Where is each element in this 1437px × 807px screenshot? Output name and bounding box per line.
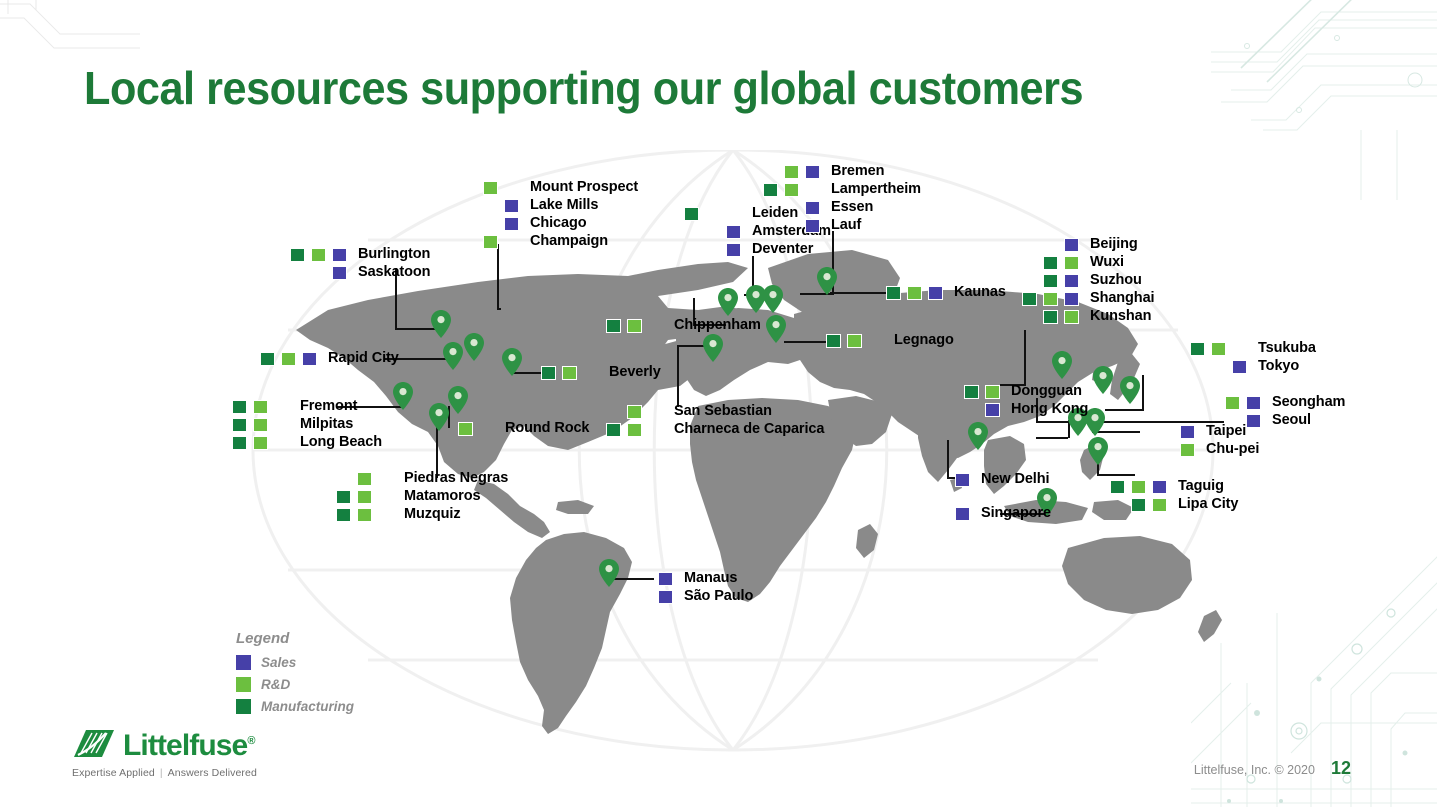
swatch-rnd bbox=[985, 385, 1000, 399]
city-label-row: Saskatoon bbox=[290, 264, 430, 281]
swatch-sales bbox=[1180, 425, 1195, 439]
swatch-slot-2 bbox=[253, 400, 271, 414]
swatch-slot-1 bbox=[336, 472, 354, 486]
swatch-slot-3 bbox=[378, 472, 396, 486]
swatch-slot-1 bbox=[763, 201, 781, 215]
city-name: Seoul bbox=[1272, 413, 1311, 428]
logo-registered-mark: ® bbox=[247, 735, 254, 747]
city-label-row: São Paulo bbox=[616, 588, 753, 605]
city-label-row: Taipei bbox=[1138, 423, 1259, 440]
slide-canvas: Local resources supporting our global cu… bbox=[0, 0, 1437, 807]
swatch-rnd bbox=[627, 405, 642, 419]
swatch-slot-1 bbox=[1138, 425, 1156, 439]
swatch-slot-1 bbox=[913, 473, 931, 487]
swatch-slot-2 bbox=[1131, 498, 1149, 512]
city-label-row: Round Rock bbox=[437, 420, 589, 437]
city-name: Charneca de Caparica bbox=[674, 422, 824, 437]
swatch-manufacturing bbox=[886, 286, 901, 300]
swatch-manufacturing bbox=[290, 248, 305, 262]
swatch-slot-1 bbox=[541, 366, 559, 380]
swatch-rnd bbox=[1064, 256, 1079, 270]
swatch-slot-2 bbox=[627, 423, 645, 437]
city-label-row: Long Beach bbox=[232, 434, 382, 451]
swatch-slot-1 bbox=[616, 572, 634, 586]
city-name: Beijing bbox=[1090, 237, 1138, 252]
city-label-row: Chu-pei bbox=[1138, 441, 1259, 458]
swatch-rnd bbox=[1043, 292, 1058, 306]
city-label-row: Chicago bbox=[462, 215, 638, 232]
swatch-slot-3 bbox=[583, 366, 601, 380]
city-name: San Sebastian bbox=[674, 404, 772, 419]
swatch-slot-1 bbox=[462, 181, 480, 195]
swatch-slot-3 bbox=[274, 436, 292, 450]
swatch-slot-1 bbox=[336, 490, 354, 504]
swatch-slot-2 bbox=[637, 572, 655, 586]
swatch-slot-3 bbox=[805, 183, 823, 197]
swatch-slot-3 bbox=[805, 165, 823, 179]
legend-item-rnd: R&D bbox=[236, 675, 354, 693]
swatch-slot-2 bbox=[784, 165, 802, 179]
city-label-row: Essen bbox=[763, 199, 921, 216]
swatch-slot-3 bbox=[1246, 396, 1264, 410]
logo-tagline: Expertise Applied|Answers Delivered bbox=[72, 767, 257, 779]
swatch-slot-1 bbox=[1022, 274, 1040, 288]
city-name: New Delhi bbox=[981, 472, 1049, 487]
swatch-sales bbox=[332, 266, 347, 280]
swatch-slot-1 bbox=[1022, 310, 1040, 324]
swatch-slot-3 bbox=[378, 508, 396, 522]
city-label-row: Chippenham bbox=[606, 317, 761, 334]
city-label-row: Milpitas bbox=[232, 416, 382, 433]
swatch-sales bbox=[805, 165, 820, 179]
swatch-slot-1 bbox=[606, 319, 624, 333]
swatch-slot-3 bbox=[1232, 342, 1250, 356]
city-name: Burlington bbox=[358, 247, 430, 262]
swatch-slot-2 bbox=[637, 590, 655, 604]
swatch-slot-1 bbox=[1110, 498, 1128, 512]
label-group-beverly: Beverly bbox=[541, 364, 661, 382]
city-label-row: Beijing bbox=[1022, 236, 1154, 253]
swatch-rnd bbox=[357, 490, 372, 504]
swatch-slot-2 bbox=[784, 201, 802, 215]
swatch-slot-2 bbox=[483, 235, 501, 249]
swatch-rnd bbox=[627, 319, 642, 333]
legend-label: R&D bbox=[261, 677, 290, 692]
swatch-slot-2 bbox=[705, 225, 723, 239]
legend-label: Sales bbox=[261, 655, 296, 670]
swatch-slot-1 bbox=[232, 418, 250, 432]
map-pin bbox=[703, 334, 723, 362]
city-name: Taguig bbox=[1178, 479, 1224, 494]
swatch-slot-1 bbox=[943, 385, 961, 399]
swatch-rnd bbox=[311, 248, 326, 262]
legend-item-sales: Sales bbox=[236, 653, 354, 671]
label-group-taguig: TaguigLipa City bbox=[1110, 478, 1238, 514]
city-label-row: Fremont bbox=[232, 398, 382, 415]
swatch-slot-1 bbox=[437, 422, 455, 436]
swatch-rnd bbox=[357, 472, 372, 486]
city-name: Lauf bbox=[831, 218, 861, 233]
swatch-slot-3 bbox=[504, 235, 522, 249]
map-pin bbox=[718, 288, 738, 316]
swatch-manufacturing bbox=[1110, 480, 1125, 494]
city-label-row: Manaus bbox=[616, 570, 753, 587]
city-name: Tsukuba bbox=[1258, 341, 1316, 356]
swatch-slot-2 bbox=[964, 385, 982, 399]
city-name: Round Rock bbox=[505, 421, 589, 436]
city-name: Chu-pei bbox=[1206, 442, 1259, 457]
map-pin bbox=[393, 382, 413, 410]
swatch-slot-3 bbox=[726, 225, 744, 239]
swatch-manufacturing bbox=[1022, 292, 1037, 306]
swatch-rnd bbox=[253, 436, 268, 450]
swatch-slot-2 bbox=[311, 248, 329, 262]
swatch-sales bbox=[302, 352, 317, 366]
legend-swatch-rnd bbox=[236, 677, 251, 692]
label-group-bremen: BremenLampertheimEssenLauf bbox=[763, 163, 921, 235]
swatch-slot-2 bbox=[1225, 396, 1243, 410]
swatch-sales bbox=[658, 590, 673, 604]
swatch-slot-2 bbox=[784, 219, 802, 233]
label-group-new-delhi: New Delhi bbox=[913, 471, 1049, 489]
swatch-slot-1 bbox=[290, 248, 308, 262]
city-label-row: San Sebastian bbox=[606, 403, 824, 420]
city-name: Bremen bbox=[831, 164, 884, 179]
city-label-row: Lauf bbox=[763, 217, 921, 234]
city-name: Suzhou bbox=[1090, 273, 1142, 288]
swatch-slot-2 bbox=[964, 403, 982, 417]
city-name: Kunshan bbox=[1090, 309, 1151, 324]
swatch-slot-1 bbox=[336, 508, 354, 522]
label-group-chippenham: Chippenham bbox=[606, 317, 761, 335]
label-group-tsukuba: TsukubaTokyo bbox=[1190, 340, 1316, 376]
swatch-slot-3 bbox=[378, 490, 396, 504]
swatch-slot-3 bbox=[726, 207, 744, 221]
swatch-slot-2 bbox=[784, 183, 802, 197]
label-group-beijing: BeijingWuxiSuzhouShanghaiKunshan bbox=[1022, 236, 1154, 326]
label-group-round-rock: Round Rock bbox=[437, 420, 589, 438]
swatch-slot-2 bbox=[1043, 310, 1061, 324]
map-pin bbox=[763, 285, 783, 313]
swatch-slot-1 bbox=[1022, 238, 1040, 252]
swatch-slot-1 bbox=[763, 165, 781, 179]
swatch-sales bbox=[1064, 274, 1079, 288]
legend-item-manufacturing: Manufacturing bbox=[236, 697, 354, 715]
map-pin bbox=[1052, 351, 1072, 379]
swatch-slot-3 bbox=[805, 219, 823, 233]
label-group-san-sebastian: San SebastianCharneca de Caparica bbox=[606, 403, 824, 439]
swatch-sales bbox=[1246, 396, 1261, 410]
slide-footer: Littelfuse, Inc. © 2020 12 bbox=[1194, 758, 1351, 779]
swatch-slot-3 bbox=[332, 248, 350, 262]
map-pin bbox=[968, 422, 988, 450]
swatch-rnd bbox=[784, 165, 799, 179]
swatch-slot-2 bbox=[253, 418, 271, 432]
legend-items: SalesR&DManufacturing bbox=[236, 653, 354, 715]
swatch-slot-3 bbox=[985, 385, 1003, 399]
swatch-rnd bbox=[1131, 480, 1146, 494]
swatch-slot-3 bbox=[1064, 310, 1082, 324]
swatch-rnd bbox=[483, 235, 498, 249]
swatch-slot-3 bbox=[955, 507, 973, 521]
city-label-row: Singapore bbox=[913, 505, 1051, 522]
swatch-rnd bbox=[1211, 342, 1226, 356]
city-label-row: Lampertheim bbox=[763, 181, 921, 198]
swatch-manufacturing bbox=[606, 319, 621, 333]
swatch-slot-3 bbox=[955, 473, 973, 487]
swatch-slot-1 bbox=[684, 207, 702, 221]
city-label-row: Bremen bbox=[763, 163, 921, 180]
swatch-slot-3 bbox=[648, 405, 666, 419]
swatch-slot-2 bbox=[458, 422, 476, 436]
swatch-slot-3 bbox=[658, 590, 676, 604]
swatch-slot-2 bbox=[934, 507, 952, 521]
map-pin bbox=[1093, 366, 1113, 394]
city-name: Piedras Negras bbox=[404, 471, 508, 486]
swatch-slot-2 bbox=[1043, 292, 1061, 306]
swatch-slot-2 bbox=[1159, 443, 1177, 457]
circuit-decoration-top-right bbox=[1211, 0, 1437, 200]
swatch-slot-3 bbox=[1064, 292, 1082, 306]
swatch-manufacturing bbox=[826, 334, 841, 348]
label-group-rapid-city: Rapid City bbox=[260, 350, 399, 368]
swatch-slot-1 bbox=[290, 266, 308, 280]
label-group-dongguan: DongguanHong Kong bbox=[943, 383, 1088, 419]
swatch-sales bbox=[955, 507, 970, 521]
legend-label: Manufacturing bbox=[261, 699, 354, 714]
swatch-sales bbox=[332, 248, 347, 262]
label-group-legnago: Legnago bbox=[826, 332, 954, 350]
swatch-manufacturing bbox=[1131, 498, 1146, 512]
swatch-slot-2 bbox=[1211, 342, 1229, 356]
swatch-slot-3 bbox=[504, 217, 522, 231]
swatch-rnd bbox=[1225, 396, 1240, 410]
swatch-slot-2 bbox=[357, 490, 375, 504]
city-name: Shanghai bbox=[1090, 291, 1154, 306]
city-name: Chippenham bbox=[674, 318, 761, 333]
city-label-row: Lake Mills bbox=[462, 197, 638, 214]
swatch-rnd bbox=[281, 352, 296, 366]
map-pin bbox=[431, 310, 451, 338]
city-label-row: Seongham bbox=[1204, 394, 1345, 411]
city-name: Matamoros bbox=[404, 489, 480, 504]
swatch-sales bbox=[726, 243, 741, 257]
city-name: Beverly bbox=[609, 365, 661, 380]
legend: Legend SalesR&DManufacturing bbox=[236, 630, 354, 719]
swatch-rnd bbox=[562, 366, 577, 380]
label-group-fremont: FremontMilpitasLong Beach bbox=[232, 398, 382, 452]
swatch-manufacturing bbox=[336, 490, 351, 504]
swatch-slot-1 bbox=[232, 436, 250, 450]
city-name: Singapore bbox=[981, 506, 1051, 521]
swatch-slot-1 bbox=[606, 423, 624, 437]
swatch-slot-2 bbox=[847, 334, 865, 348]
city-label-row: Deventer bbox=[684, 241, 831, 258]
swatch-slot-1 bbox=[1190, 342, 1208, 356]
city-name: Manaus bbox=[684, 571, 737, 586]
swatch-slot-1 bbox=[1022, 292, 1040, 306]
swatch-sales bbox=[658, 572, 673, 586]
swatch-sales bbox=[1152, 480, 1167, 494]
swatch-rnd bbox=[627, 423, 642, 437]
swatch-sales bbox=[726, 225, 741, 239]
swatch-sales bbox=[928, 286, 943, 300]
city-name: Legnago bbox=[894, 333, 954, 348]
swatch-slot-1 bbox=[684, 225, 702, 239]
littelfuse-logo: Littelfuse® Expertise Applied|Answers De… bbox=[72, 728, 257, 779]
swatch-rnd bbox=[1152, 498, 1167, 512]
city-name: Lampertheim bbox=[831, 182, 921, 197]
swatch-manufacturing bbox=[260, 352, 275, 366]
swatch-sales bbox=[1064, 292, 1079, 306]
swatch-slot-1 bbox=[1190, 360, 1208, 374]
swatch-slot-3 bbox=[805, 201, 823, 215]
swatch-slot-2 bbox=[562, 366, 580, 380]
swatch-slot-1 bbox=[260, 352, 278, 366]
swatch-sales bbox=[805, 201, 820, 215]
swatch-manufacturing bbox=[1190, 342, 1205, 356]
swatch-sales bbox=[805, 219, 820, 233]
swatch-slot-3 bbox=[274, 400, 292, 414]
swatch-rnd bbox=[1064, 310, 1079, 324]
label-group-piedras-negras: Piedras NegrasMatamorosMuzquiz bbox=[336, 470, 508, 524]
swatch-slot-2 bbox=[1043, 274, 1061, 288]
swatch-slot-2 bbox=[357, 472, 375, 486]
city-name: Rapid City bbox=[328, 351, 399, 366]
swatch-slot-1 bbox=[763, 219, 781, 233]
swatch-slot-1 bbox=[1022, 256, 1040, 270]
swatch-sales bbox=[955, 473, 970, 487]
city-label-row: Wuxi bbox=[1022, 254, 1154, 271]
legend-swatch-sales bbox=[236, 655, 251, 670]
swatch-rnd bbox=[784, 183, 799, 197]
swatch-slot-3 bbox=[928, 286, 946, 300]
city-label-row: Kunshan bbox=[1022, 308, 1154, 325]
swatch-slot-3 bbox=[274, 418, 292, 432]
city-name: Lipa City bbox=[1178, 497, 1238, 512]
map-pin bbox=[817, 267, 837, 295]
city-name: Saskatoon bbox=[358, 265, 430, 280]
tagline-right: Answers Delivered bbox=[168, 767, 257, 779]
city-label-row: Hong Kong bbox=[943, 401, 1088, 418]
swatch-slot-1 bbox=[943, 403, 961, 417]
swatch-slot-3 bbox=[658, 572, 676, 586]
city-name: Milpitas bbox=[300, 417, 353, 432]
swatch-rnd bbox=[1180, 443, 1195, 457]
swatch-slot-2 bbox=[705, 243, 723, 257]
city-label-row: Piedras Negras bbox=[336, 470, 508, 487]
city-name: Kaunas bbox=[954, 285, 1006, 300]
city-name: Mount Prospect bbox=[530, 180, 638, 195]
swatch-slot-2 bbox=[1043, 256, 1061, 270]
swatch-slot-2 bbox=[253, 436, 271, 450]
city-label-row: Taguig bbox=[1110, 478, 1238, 495]
swatch-rnd bbox=[907, 286, 922, 300]
swatch-rnd bbox=[847, 334, 862, 348]
swatch-slot-1 bbox=[1204, 396, 1222, 410]
city-label-row: Charneca de Caparica bbox=[606, 421, 824, 438]
swatch-rnd bbox=[458, 422, 473, 436]
swatch-slot-1 bbox=[232, 400, 250, 414]
label-group-mount-prospect: Mount ProspectLake MillsChicagoChampaign bbox=[462, 179, 638, 251]
city-name: Lake Mills bbox=[530, 198, 598, 213]
city-label-row: Shanghai bbox=[1022, 290, 1154, 307]
city-label-row: Champaign bbox=[462, 233, 638, 250]
swatch-slot-3 bbox=[504, 181, 522, 195]
swatch-slot-2 bbox=[483, 181, 501, 195]
swatch-slot-3 bbox=[504, 199, 522, 213]
page-number: 12 bbox=[1331, 758, 1351, 779]
swatch-slot-1 bbox=[763, 183, 781, 197]
city-name: Deventer bbox=[752, 242, 813, 257]
swatch-slot-2 bbox=[1159, 425, 1177, 439]
swatch-slot-3 bbox=[648, 423, 666, 437]
swatch-manufacturing bbox=[1043, 274, 1058, 288]
swatch-manufacturing bbox=[763, 183, 778, 197]
city-label-row: Muzquiz bbox=[336, 506, 508, 523]
city-name: Tokyo bbox=[1258, 359, 1299, 374]
city-name: Taipei bbox=[1206, 424, 1246, 439]
city-name: Seongham bbox=[1272, 395, 1345, 410]
swatch-manufacturing bbox=[336, 508, 351, 522]
label-group-taipei: TaipeiChu-pei bbox=[1138, 423, 1259, 459]
city-label-row: Beverly bbox=[541, 364, 661, 381]
swatch-rnd bbox=[253, 400, 268, 414]
city-name: Chicago bbox=[530, 216, 587, 231]
city-label-row: Tokyo bbox=[1190, 358, 1316, 375]
swatch-slot-2 bbox=[281, 352, 299, 366]
swatch-sales bbox=[1232, 360, 1247, 374]
swatch-slot-2 bbox=[627, 405, 645, 419]
label-group-burlington: BurlingtonSaskatoon bbox=[290, 246, 430, 282]
tagline-left: Expertise Applied bbox=[72, 767, 155, 779]
swatch-slot-1 bbox=[462, 199, 480, 213]
city-label-row: Rapid City bbox=[260, 350, 399, 367]
map-pin bbox=[464, 333, 484, 361]
city-label-row: Mount Prospect bbox=[462, 179, 638, 196]
legend-title: Legend bbox=[236, 630, 354, 647]
tagline-separator: | bbox=[160, 767, 163, 779]
littelfuse-mark-icon bbox=[72, 728, 116, 761]
swatch-slot-2 bbox=[483, 217, 501, 231]
swatch-slot-1 bbox=[684, 243, 702, 257]
label-group-kaunas: Kaunas bbox=[886, 284, 1006, 302]
swatch-slot-3 bbox=[1064, 256, 1082, 270]
swatch-manufacturing bbox=[684, 207, 699, 221]
swatch-slot-3 bbox=[1064, 274, 1082, 288]
city-name: São Paulo bbox=[684, 589, 753, 604]
swatch-slot-3 bbox=[868, 334, 886, 348]
copyright-text: Littelfuse, Inc. © 2020 bbox=[1194, 763, 1315, 777]
swatch-slot-2 bbox=[705, 207, 723, 221]
map-pin bbox=[448, 386, 468, 414]
swatch-slot-3 bbox=[302, 352, 320, 366]
swatch-manufacturing bbox=[541, 366, 556, 380]
swatch-slot-3 bbox=[1152, 480, 1170, 494]
map-pin bbox=[1120, 376, 1140, 404]
swatch-slot-3 bbox=[332, 266, 350, 280]
swatch-slot-3 bbox=[1064, 238, 1082, 252]
map-pin bbox=[1088, 437, 1108, 465]
swatch-slot-2 bbox=[311, 266, 329, 280]
swatch-slot-2 bbox=[357, 508, 375, 522]
city-label-row: Matamoros bbox=[336, 488, 508, 505]
city-label-row: New Delhi bbox=[913, 471, 1049, 488]
swatch-rnd bbox=[483, 181, 498, 195]
swatch-slot-1 bbox=[826, 334, 844, 348]
city-label-row: Suzhou bbox=[1022, 272, 1154, 289]
page-title: Local resources supporting our global cu… bbox=[84, 62, 1083, 114]
